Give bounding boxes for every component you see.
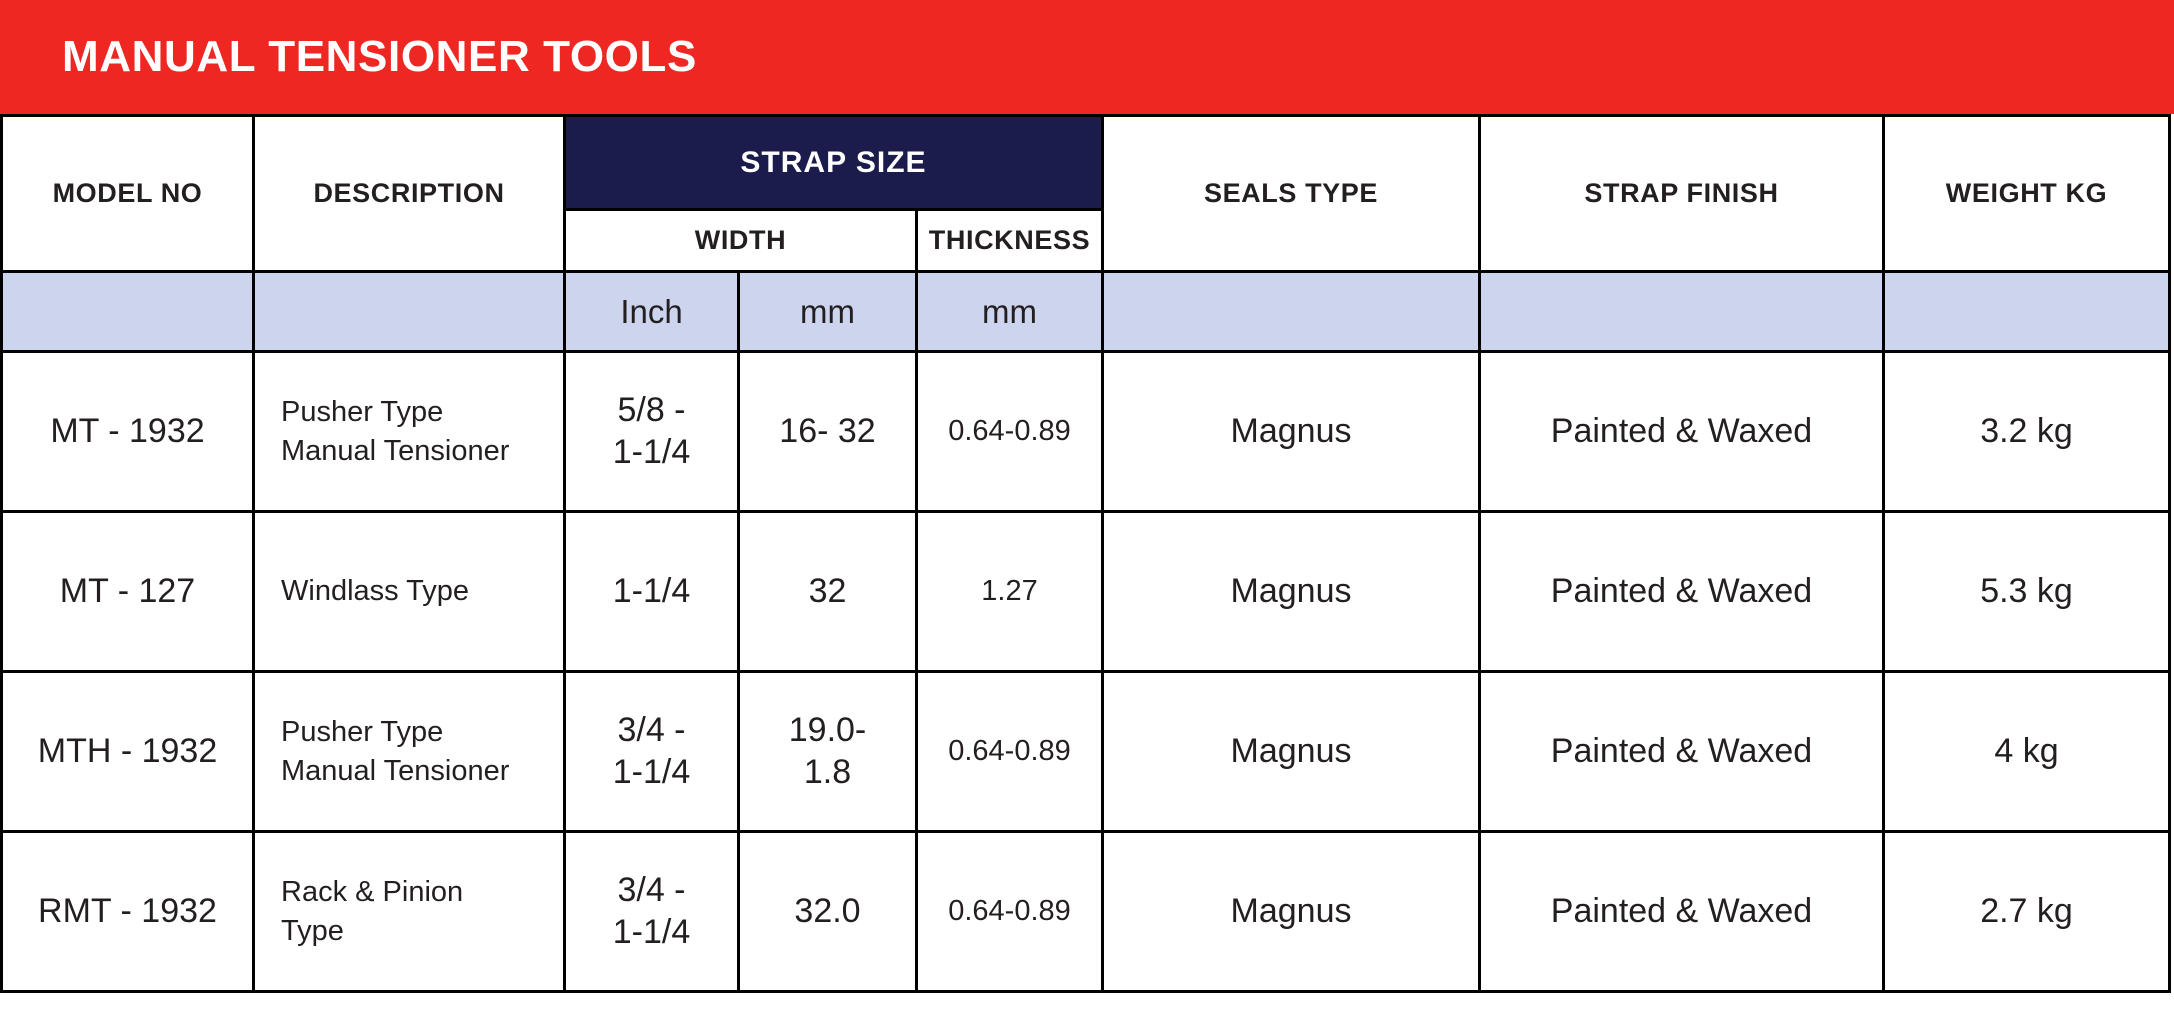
unit-model-no xyxy=(2,272,254,352)
cell-width-mm: 16- 32 xyxy=(739,352,917,512)
cell-strap-finish: Painted & Waxed xyxy=(1480,512,1884,672)
description-line-2: Manual Tensioner xyxy=(281,752,553,791)
table-row: RMT - 1932 Rack & Pinion Type 3/4 - 1-1/… xyxy=(2,832,2170,992)
cell-thickness-mm: 0.64-0.89 xyxy=(917,672,1103,832)
width-inch-line-2: 1-1/4 xyxy=(576,432,727,473)
unit-description xyxy=(254,272,565,352)
width-mm-line-2: 1.8 xyxy=(750,752,905,793)
width-inch-line-1: 5/8 - xyxy=(576,390,727,431)
header-strap-size: STRAP SIZE xyxy=(565,116,1103,210)
cell-model-no: MT - 1932 xyxy=(2,352,254,512)
cell-width-inch: 1-1/4 xyxy=(565,512,739,672)
table-body: Inch mm mm MT - 1932 Pusher Type Manual … xyxy=(2,272,2170,992)
description-line-1: Rack & Pinion xyxy=(281,873,553,912)
cell-description: Windlass Type xyxy=(254,512,565,672)
table-row: MT - 1932 Pusher Type Manual Tensioner 5… xyxy=(2,352,2170,512)
cell-thickness-mm: 1.27 xyxy=(917,512,1103,672)
header-weight-kg: WEIGHT KG xyxy=(1884,116,2170,272)
header-thickness: THICKNESS xyxy=(917,210,1103,272)
unit-thickness-mm: mm xyxy=(917,272,1103,352)
width-mm-line-1: 19.0- xyxy=(750,710,905,751)
cell-model-no: MT - 127 xyxy=(2,512,254,672)
cell-width-mm: 32.0 xyxy=(739,832,917,992)
description-line-2: Manual Tensioner xyxy=(281,432,553,471)
cell-description: Pusher Type Manual Tensioner xyxy=(254,352,565,512)
unit-weight-kg xyxy=(1884,272,2170,352)
description-line-1: Pusher Type xyxy=(281,713,553,752)
spec-table-container: MODEL NO DESCRIPTION STRAP SIZE SEALS TY… xyxy=(0,114,2174,1010)
cell-width-inch: 3/4 - 1-1/4 xyxy=(565,832,739,992)
table-head: MODEL NO DESCRIPTION STRAP SIZE SEALS TY… xyxy=(2,116,2170,272)
cell-weight-kg: 5.3 kg xyxy=(1884,512,2170,672)
unit-width-inch: Inch xyxy=(565,272,739,352)
cell-thickness-mm: 0.64-0.89 xyxy=(917,832,1103,992)
cell-seals-type: Magnus xyxy=(1103,672,1480,832)
description-line-2: Type xyxy=(281,912,553,951)
cell-model-no: RMT - 1932 xyxy=(2,832,254,992)
header-width: WIDTH xyxy=(565,210,917,272)
cell-width-mm: 19.0- 1.8 xyxy=(739,672,917,832)
header-seals-type: SEALS TYPE xyxy=(1103,116,1480,272)
cell-description: Pusher Type Manual Tensioner xyxy=(254,672,565,832)
header-model-no: MODEL NO xyxy=(2,116,254,272)
width-mm-line-1: 16- 32 xyxy=(750,411,905,452)
table-row: MT - 127 Windlass Type 1-1/4 32 1.27 Ma xyxy=(2,512,2170,672)
unit-seals-type xyxy=(1103,272,1480,352)
spec-sheet: MANUAL TENSIONER TOOLS MODEL NO DESCRIPT… xyxy=(0,0,2174,1010)
width-inch-line-1: 3/4 - xyxy=(576,870,727,911)
cell-strap-finish: Painted & Waxed xyxy=(1480,352,1884,512)
width-inch-line-1: 1-1/4 xyxy=(576,571,727,612)
cell-weight-kg: 2.7 kg xyxy=(1884,832,2170,992)
table-row: MTH - 1932 Pusher Type Manual Tensioner … xyxy=(2,672,2170,832)
width-inch-line-2: 1-1/4 xyxy=(576,912,727,953)
width-mm-line-1: 32 xyxy=(750,571,905,612)
specification-table: MODEL NO DESCRIPTION STRAP SIZE SEALS TY… xyxy=(0,114,2171,993)
cell-strap-finish: Painted & Waxed xyxy=(1480,832,1884,992)
page-title: MANUAL TENSIONER TOOLS xyxy=(62,0,697,114)
cell-thickness-mm: 0.64-0.89 xyxy=(917,352,1103,512)
width-inch-line-2: 1-1/4 xyxy=(576,752,727,793)
header-description: DESCRIPTION xyxy=(254,116,565,272)
header-strap-finish: STRAP FINISH xyxy=(1480,116,1884,272)
cell-model-no: MTH - 1932 xyxy=(2,672,254,832)
units-row: Inch mm mm xyxy=(2,272,2170,352)
cell-seals-type: Magnus xyxy=(1103,832,1480,992)
unit-width-mm: mm xyxy=(739,272,917,352)
cell-weight-kg: 3.2 kg xyxy=(1884,352,2170,512)
cell-width-mm: 32 xyxy=(739,512,917,672)
width-inch-line-1: 3/4 - xyxy=(576,710,727,751)
cell-width-inch: 5/8 - 1-1/4 xyxy=(565,352,739,512)
cell-width-inch: 3/4 - 1-1/4 xyxy=(565,672,739,832)
description-line-1: Windlass Type xyxy=(281,572,553,611)
cell-seals-type: Magnus xyxy=(1103,352,1480,512)
cell-description: Rack & Pinion Type xyxy=(254,832,565,992)
width-mm-line-1: 32.0 xyxy=(750,891,905,932)
title-banner: MANUAL TENSIONER TOOLS xyxy=(0,0,2174,114)
cell-weight-kg: 4 kg xyxy=(1884,672,2170,832)
unit-strap-finish xyxy=(1480,272,1884,352)
cell-strap-finish: Painted & Waxed xyxy=(1480,672,1884,832)
cell-seals-type: Magnus xyxy=(1103,512,1480,672)
description-line-1: Pusher Type xyxy=(281,393,553,432)
header-row-primary: MODEL NO DESCRIPTION STRAP SIZE SEALS TY… xyxy=(2,116,2170,210)
